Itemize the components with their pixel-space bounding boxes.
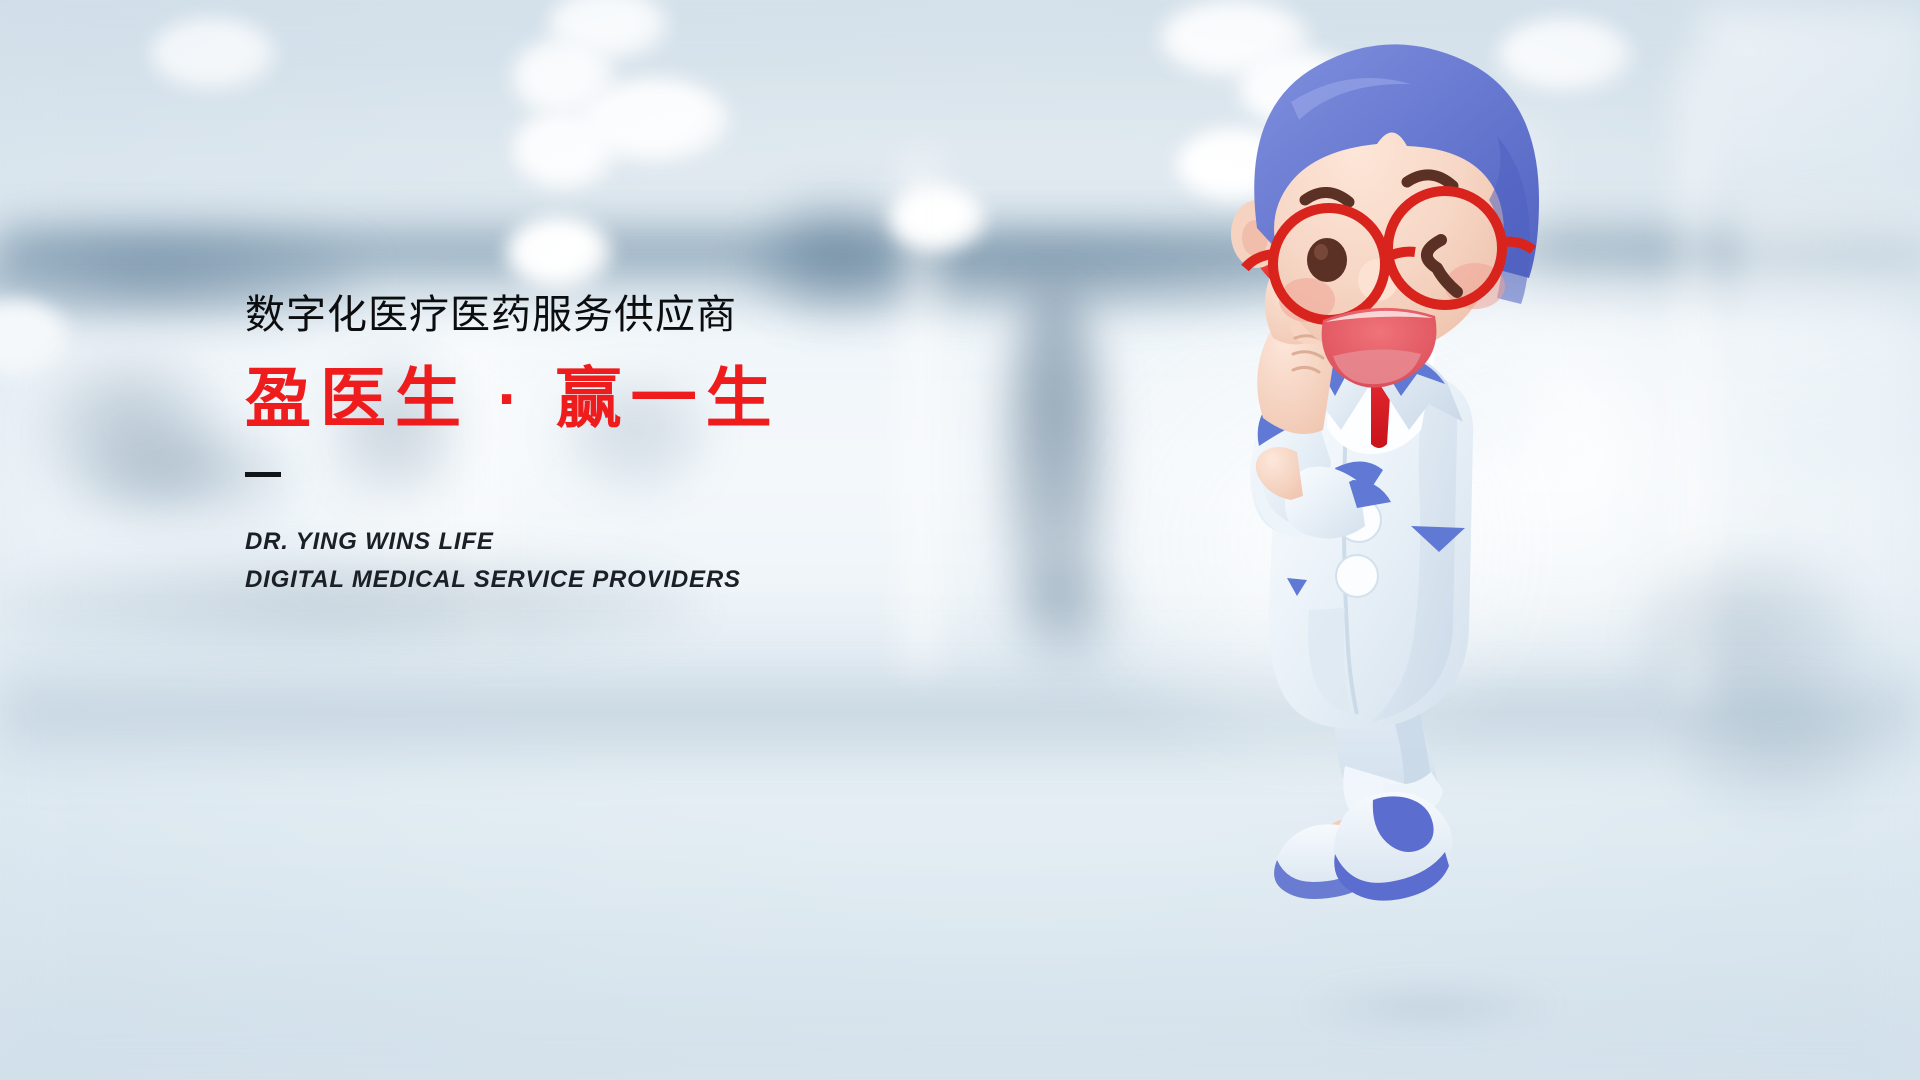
hero-english-line-2: DIGITAL MEDICAL SERVICE PROVIDERS	[245, 561, 781, 599]
mascot-shadow	[1300, 985, 1560, 1029]
hero-banner: 数字化医疗医药服务供应商 盈医生 · 赢一生 DR. YING WINS LIF…	[0, 0, 1920, 1080]
hero-copy: 数字化医疗医药服务供应商 盈医生 · 赢一生 DR. YING WINS LIF…	[245, 292, 781, 599]
eye-open	[1307, 238, 1347, 282]
hero-english-block: DR. YING WINS LIFE DIGITAL MEDICAL SERVI…	[245, 523, 781, 599]
hero-kicker: 数字化医疗医药服务供应商	[245, 292, 781, 339]
hero-headline: 盈医生 · 赢一生	[245, 363, 781, 434]
shoes	[1274, 792, 1452, 901]
hero-english-line-1: DR. YING WINS LIFE	[245, 523, 781, 561]
doctor-mascot	[1195, 48, 1635, 878]
hero-divider	[245, 472, 281, 477]
